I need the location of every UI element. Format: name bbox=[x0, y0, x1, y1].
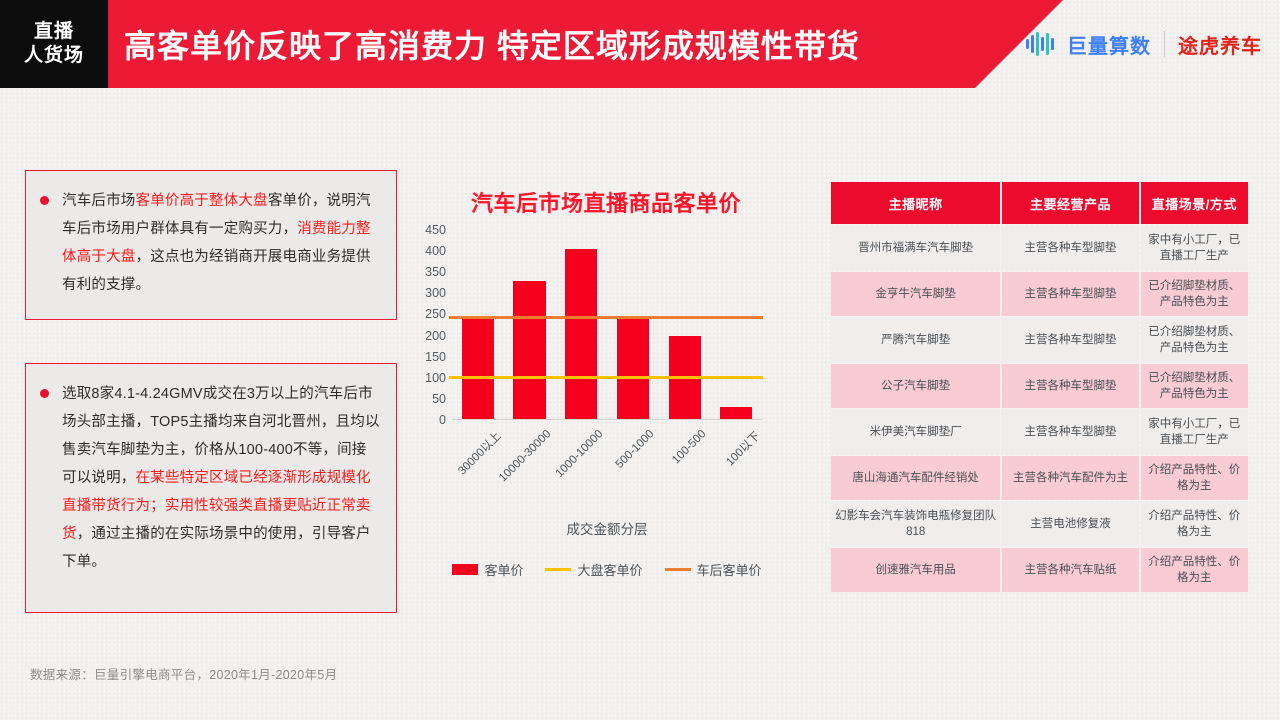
table-cell: 主营各种车型脚垫 bbox=[1002, 364, 1138, 408]
oceanengine-logo-icon bbox=[1026, 31, 1054, 57]
legend-swatch bbox=[665, 568, 691, 571]
table-cell: 主营电池修复液 bbox=[1002, 502, 1138, 546]
partner-name: 途虎养车 bbox=[1178, 30, 1262, 59]
table-body: 晋州市福满车汽车脚垫主营各种车型脚垫家中有小工厂，已直播工厂生产金亨牛汽车脚垫主… bbox=[831, 226, 1248, 592]
chart-title: 汽车后市场直播商品客单价 bbox=[406, 186, 806, 218]
table-row[interactable]: 公子汽车脚垫主营各种车型脚垫已介绍脚垫材质、产品特色为主 bbox=[831, 364, 1248, 408]
table-cell: 公子汽车脚垫 bbox=[831, 364, 1000, 408]
y-tick-label: 200 bbox=[406, 329, 446, 343]
text-segment-2: ，通过主播的在实际场景中的使用，引导客户下单。 bbox=[62, 526, 371, 570]
table-cell: 米伊美汽车脚垫厂 bbox=[831, 410, 1000, 454]
text-segment-0: 汽车后市场 bbox=[62, 193, 136, 209]
header-logos: 巨量算数 途虎养车 bbox=[1026, 0, 1262, 88]
y-tick-label: 100 bbox=[406, 371, 446, 385]
y-tick-label: 350 bbox=[406, 265, 446, 279]
table-row[interactable]: 晋州市福满车汽车脚垫主营各种车型脚垫家中有小工厂，已直播工厂生产 bbox=[831, 226, 1248, 270]
logo-divider bbox=[1164, 31, 1165, 57]
table-header: 主播昵称主要经营产品直播场景/方式 bbox=[831, 182, 1248, 224]
y-tick-label: 300 bbox=[406, 286, 446, 300]
table-cell: 家中有小工厂，已直播工厂生产 bbox=[1141, 410, 1248, 454]
callout-1-text: 汽车后市场客单价高于整体大盘客单价，说明汽车后市场用户群体具有一定购买力，消费能… bbox=[62, 187, 380, 309]
table-row[interactable]: 严腾汽车脚垫主营各种车型脚垫已介绍脚垫材质、产品特色为主 bbox=[831, 318, 1248, 362]
chart-y-axis: 450400350300250200150100500 bbox=[406, 230, 446, 420]
table-cell: 主营各种汽车贴纸 bbox=[1002, 548, 1138, 592]
table-row[interactable]: 幻影车会汽车装饰电瓶修复团队818主营电池修复液介绍产品特性、价格为主 bbox=[831, 502, 1248, 546]
table-cell: 主营各种汽车配件为主 bbox=[1002, 456, 1138, 500]
table-cell: 严腾汽车脚垫 bbox=[831, 318, 1000, 362]
bar-slot bbox=[710, 230, 762, 420]
callout-box-1: 汽车后市场客单价高于整体大盘客单价，说明汽车后市场用户群体具有一定购买力，消费能… bbox=[25, 170, 397, 320]
chart-bar[interactable] bbox=[565, 249, 597, 420]
y-tick-label: 150 bbox=[406, 350, 446, 364]
table-row[interactable]: 米伊美汽车脚垫厂主营各种车型脚垫家中有小工厂，已直播工厂生产 bbox=[831, 410, 1248, 454]
legend-label: 客单价 bbox=[484, 560, 523, 579]
chart-x-tick-labels: 30000以上10000-300001000-10000500-1000100-… bbox=[452, 422, 762, 512]
page-header: 直播 人货场 高客单价反映了高消费力 特定区域形成规模性带货 巨量算数 途虎养车 bbox=[0, 0, 1280, 88]
anchors-table-container: 主播昵称主要经营产品直播场景/方式 晋州市福满车汽车脚垫主营各种车型脚垫家中有小… bbox=[829, 180, 1250, 594]
table-cell: 晋州市福满车汽车脚垫 bbox=[831, 226, 1000, 270]
legend-item[interactable]: 车后客单价 bbox=[665, 560, 762, 579]
table-column-header: 主要经营产品 bbox=[1002, 182, 1138, 224]
chart-x-axis-line bbox=[452, 419, 762, 420]
legend-label: 大盘客单价 bbox=[577, 560, 642, 579]
table-cell: 主营各种车型脚垫 bbox=[1002, 272, 1138, 316]
callout-2-text: 选取8家4.1-4.24GMV成交在3万以上的汽车后市场头部主播，TOP5主播均… bbox=[62, 380, 380, 602]
table-row[interactable]: 唐山海通汽车配件经销处主营各种汽车配件为主介绍产品特性、价格为主 bbox=[831, 456, 1248, 500]
table-cell: 介绍产品特性、价格为主 bbox=[1141, 456, 1248, 500]
table-cell: 主营各种车型脚垫 bbox=[1002, 318, 1138, 362]
bar-slot bbox=[659, 230, 711, 420]
y-tick-label: 250 bbox=[406, 307, 446, 321]
table-cell: 介绍产品特性、价格为主 bbox=[1141, 548, 1248, 592]
table-cell: 家中有小工厂，已直播工厂生产 bbox=[1141, 226, 1248, 270]
section-badge-line1: 直播 bbox=[34, 21, 74, 43]
chart-bars bbox=[452, 230, 762, 420]
chart-container: 汽车后市场直播商品客单价 450400350300250200150100500… bbox=[406, 186, 806, 596]
bar-slot bbox=[452, 230, 504, 420]
chart-plot-area: 450400350300250200150100500 30000以上10000… bbox=[452, 230, 762, 420]
y-tick-label: 0 bbox=[406, 413, 446, 427]
page-title: 高客单价反映了高消费力 特定区域形成规模性带货 bbox=[124, 0, 860, 88]
anchors-table: 主播昵称主要经营产品直播场景/方式 晋州市福满车汽车脚垫主营各种车型脚垫家中有小… bbox=[829, 180, 1250, 594]
chart-bar[interactable] bbox=[617, 318, 649, 420]
y-tick-label: 400 bbox=[406, 244, 446, 258]
table-cell: 主营各种车型脚垫 bbox=[1002, 226, 1138, 270]
chart-reference-line bbox=[449, 316, 763, 319]
table-cell: 创速雅汽车用品 bbox=[831, 548, 1000, 592]
chart-bar[interactable] bbox=[462, 319, 494, 420]
table-cell: 主营各种车型脚垫 bbox=[1002, 410, 1138, 454]
table-cell: 唐山海通汽车配件经销处 bbox=[831, 456, 1000, 500]
x-tick-label: 30000以上 bbox=[423, 428, 505, 510]
chart-reference-line bbox=[449, 376, 763, 379]
bar-slot bbox=[607, 230, 659, 420]
y-tick-label: 450 bbox=[406, 223, 446, 237]
table-cell: 金亨牛汽车脚垫 bbox=[831, 272, 1000, 316]
legend-item[interactable]: 客单价 bbox=[452, 560, 523, 579]
bullet-icon bbox=[40, 196, 49, 205]
table-header-row: 主播昵称主要经营产品直播场景/方式 bbox=[831, 182, 1248, 224]
legend-item[interactable]: 大盘客单价 bbox=[545, 560, 642, 579]
table-column-header: 直播场景/方式 bbox=[1141, 182, 1248, 224]
table-cell: 幻影车会汽车装饰电瓶修复团队818 bbox=[831, 502, 1000, 546]
bar-slot bbox=[555, 230, 607, 420]
y-tick-label: 50 bbox=[406, 392, 446, 406]
table-row[interactable]: 金亨牛汽车脚垫主营各种车型脚垫已介绍脚垫材质、产品特色为主 bbox=[831, 272, 1248, 316]
section-badge: 直播 人货场 bbox=[0, 0, 108, 88]
table-cell: 已介绍脚垫材质、产品特色为主 bbox=[1141, 272, 1248, 316]
text-segment-1: 客单价高于整体大盘 bbox=[136, 193, 268, 209]
bullet-icon bbox=[40, 389, 49, 398]
chart-bar[interactable] bbox=[720, 407, 752, 421]
section-badge-line2: 人货场 bbox=[24, 45, 84, 67]
brand-name: 巨量算数 bbox=[1067, 30, 1151, 59]
callout-box-2: 选取8家4.1-4.24GMV成交在3万以上的汽车后市场头部主播，TOP5主播均… bbox=[25, 363, 397, 613]
bar-slot bbox=[504, 230, 556, 420]
table-cell: 已介绍脚垫材质、产品特色为主 bbox=[1141, 318, 1248, 362]
table-column-header: 主播昵称 bbox=[831, 182, 1000, 224]
table-row[interactable]: 创速雅汽车用品主营各种汽车贴纸介绍产品特性、价格为主 bbox=[831, 548, 1248, 592]
table-cell: 介绍产品特性、价格为主 bbox=[1141, 502, 1248, 546]
data-source-note: 数据来源：巨量引擎电商平台，2020年1月-2020年5月 bbox=[30, 664, 337, 683]
legend-swatch bbox=[545, 568, 571, 571]
table-cell: 已介绍脚垫材质、产品特色为主 bbox=[1141, 364, 1248, 408]
chart-bar[interactable] bbox=[513, 281, 545, 420]
legend-label: 车后客单价 bbox=[697, 560, 762, 579]
legend-swatch bbox=[452, 564, 478, 575]
chart-legend: 客单价大盘客单价车后客单价 bbox=[412, 560, 802, 579]
chart-x-axis-title: 成交金额分层 bbox=[452, 518, 762, 538]
